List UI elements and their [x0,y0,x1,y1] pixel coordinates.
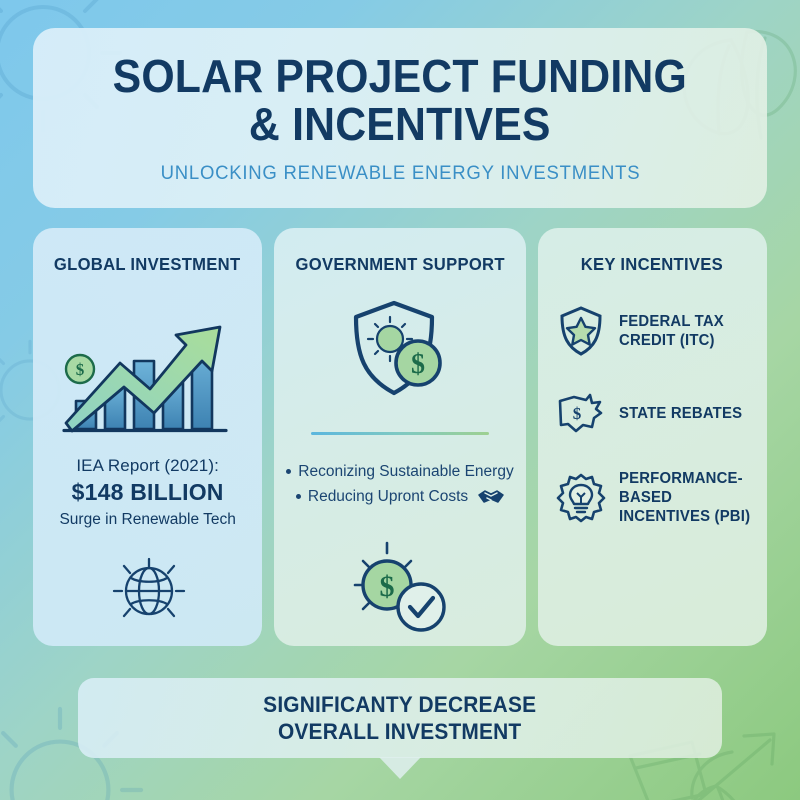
incentive-label-line-1: State Rebates [619,405,742,422]
card-global-investment: Global Investment [33,228,262,646]
dollar-sun-check-icon: $ [341,535,459,644]
card-heading-key-incentives: Key Incentives [581,254,723,275]
page-title: Solar Project Funding & Incentives [113,52,687,148]
shield-star-icon [556,305,606,357]
banner-text: Significanty Decrease Overall Investment [263,691,536,745]
shield-sun-dollar-icon: $ [344,297,456,406]
hero-panel: Solar Project Funding & Incentives Unloc… [33,28,767,208]
gear-lightbulb-icon [556,473,606,523]
card-divider [311,432,488,435]
handshake-icon [478,488,504,506]
list-item-performance-based-incentives: Performance-Based Incentives (PBI) [556,469,761,526]
list-item-federal-tax-credit: Federal Tax Credit (ITC) [556,305,761,357]
banner-line-1: Significanty Decrease [263,692,536,717]
card-heading-global-investment: Global Investment [54,254,240,275]
bullet-text: Reducing Upront Costs [308,484,468,509]
incentive-label: Federal Tax Credit (ITC) [619,312,724,350]
bullet-list: Reconizing Sustainable Energy Reducing U… [286,459,513,509]
banner-line-2: Overall Investment [278,719,521,744]
card-heading-government-support: Government Support [295,254,504,275]
bullet-dot-icon [286,469,291,474]
incentive-label-line-1: Federal Tax [619,313,724,330]
footer-banner: Significanty Decrease Overall Investment [78,678,722,758]
incentive-label: Performance-Based Incentives (PBI) [619,469,756,526]
incentive-label: State Rebates [619,404,742,423]
stat-block: IEA Report (2021): $148 BILLION Surge in… [59,456,235,529]
incentive-label-line-1: Performance-Based [619,470,743,506]
bar-chart-growth-arrow-icon: $ [58,289,238,446]
svg-text:$: $ [380,570,395,603]
stat-value: $148 BILLION [59,479,235,506]
svg-text:$: $ [411,349,425,380]
list-item-state-rebates: $ State Rebates [556,391,761,435]
page-subtitle: Unlocking Renewable Energy Investments [160,162,640,185]
cards-row: Global Investment [33,228,767,646]
stat-caption: Surge in Renewable Tech [59,511,235,529]
svg-text:$: $ [572,404,581,423]
usa-map-dollar-icon: $ [556,391,606,435]
incentive-label-line-2: Credit (ITC) [619,332,715,349]
incentive-label-line-2: Incentives (PBI) [619,508,750,525]
incentives-list: Federal Tax Credit (ITC) $ State Rebates [544,305,761,526]
page-title-line-2: & Incentives [113,100,687,148]
globe-icon [109,545,187,628]
card-government-support: Government Support $ [274,228,525,646]
svg-text:$: $ [75,360,84,379]
bullet-dot-icon [296,494,301,499]
infographic-canvas: Solar Project Funding & Incentives Unloc… [0,0,800,800]
stat-label: IEA Report (2021): [59,456,235,476]
page-title-line-1: Solar Project Funding [113,50,687,102]
card-key-incentives: Key Incentives Federal Tax Credit (ITC) [538,228,767,646]
list-item: Reducing Upront Costs [286,484,513,509]
list-item: Reconizing Sustainable Energy [286,459,513,484]
banner-tail [379,757,421,779]
bullet-text: Reconizing Sustainable Energy [298,459,513,484]
